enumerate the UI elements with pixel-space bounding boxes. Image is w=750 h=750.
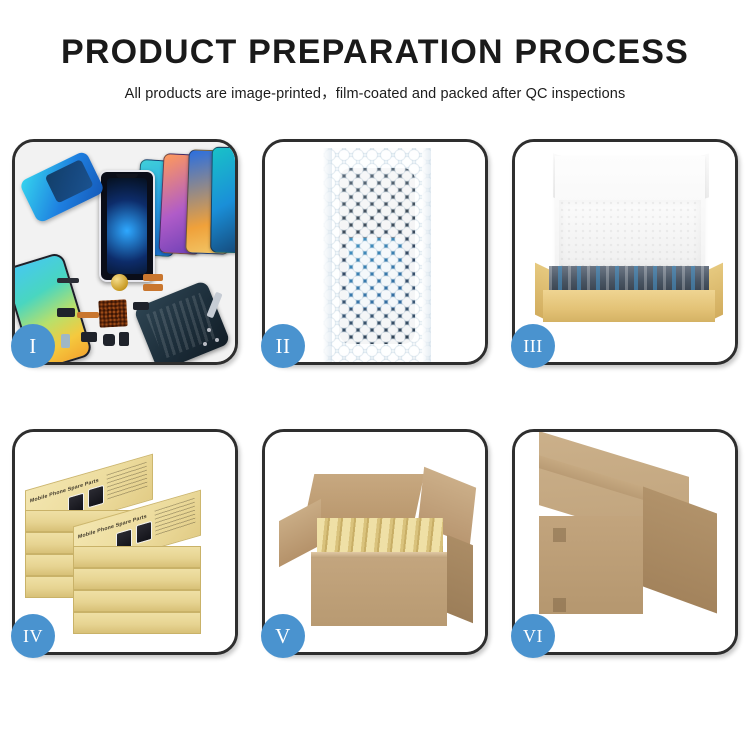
packed-screens bbox=[549, 266, 709, 292]
flex-cable-part bbox=[143, 274, 163, 281]
retail-box-stack: Mobile Phone Spare Parts Mobile Phone Sp… bbox=[21, 448, 235, 648]
screw-part bbox=[207, 328, 211, 332]
page-subtitle: All products are image-printed，film-coat… bbox=[0, 82, 750, 103]
step-panel-2[interactable]: II bbox=[262, 139, 488, 365]
screw-part bbox=[215, 338, 219, 342]
notch-icon bbox=[116, 174, 138, 178]
wrap-edge bbox=[323, 148, 332, 362]
carton-tab bbox=[553, 598, 566, 612]
box-phone-graphic bbox=[88, 485, 104, 509]
retail-box bbox=[73, 590, 201, 612]
carton-side-panel bbox=[447, 535, 473, 624]
carton-side-panel bbox=[643, 487, 717, 614]
sensor-part bbox=[61, 334, 70, 348]
bubble-texture bbox=[323, 148, 431, 362]
page-title: PRODUCT PREPARATION PROCESS bbox=[0, 34, 750, 71]
step-badge-2: II bbox=[261, 324, 305, 368]
box-phone-graphic bbox=[136, 521, 152, 545]
step-panel-6[interactable]: VI bbox=[512, 429, 738, 655]
wrap-edge bbox=[422, 148, 431, 362]
step-badge-3: III bbox=[511, 324, 555, 368]
infographic-page: PRODUCT PREPARATION PROCESS All products… bbox=[0, 0, 750, 750]
retail-box bbox=[73, 546, 201, 568]
camera-part bbox=[81, 332, 97, 342]
step-badge-5: V bbox=[261, 614, 305, 658]
flex-cable-part bbox=[143, 284, 163, 291]
button-part bbox=[103, 334, 115, 346]
process-steps-grid: I II bbox=[12, 139, 738, 655]
carton-flap-back bbox=[304, 474, 425, 524]
retail-box bbox=[73, 612, 201, 634]
step-panel-3[interactable]: III bbox=[512, 139, 738, 365]
box-front-panel bbox=[543, 290, 715, 322]
carton-front-panel bbox=[311, 558, 447, 626]
step-badge-6: VI bbox=[511, 614, 555, 658]
phone-screen-thumb bbox=[210, 147, 235, 254]
step-panel-5[interactable]: V bbox=[262, 429, 488, 655]
step-panel-1[interactable]: I bbox=[12, 139, 238, 365]
carton-tab bbox=[553, 528, 566, 542]
coil-part bbox=[111, 274, 128, 291]
flex-cable-part bbox=[77, 312, 99, 318]
speaker-part bbox=[57, 278, 79, 283]
header: PRODUCT PREPARATION PROCESS All products… bbox=[0, 0, 750, 103]
bubble-wrap-sheet bbox=[323, 148, 431, 362]
screw-part bbox=[203, 342, 207, 346]
step-badge-1: I bbox=[11, 324, 55, 368]
step-panel-4[interactable]: Mobile Phone Spare Parts Mobile Phone Sp… bbox=[12, 429, 238, 655]
lcd-assembly bbox=[19, 150, 106, 224]
connector-part bbox=[57, 308, 75, 317]
connector-part bbox=[133, 302, 149, 310]
step-badge-4: IV bbox=[11, 614, 55, 658]
box-spec-text bbox=[155, 498, 196, 537]
sim-tray-part bbox=[119, 332, 129, 346]
foam-lining bbox=[559, 200, 701, 266]
phone-front-screen bbox=[99, 170, 155, 282]
box-spec-text bbox=[107, 462, 148, 501]
copper-grid-part bbox=[98, 299, 127, 327]
retail-box bbox=[73, 568, 201, 590]
